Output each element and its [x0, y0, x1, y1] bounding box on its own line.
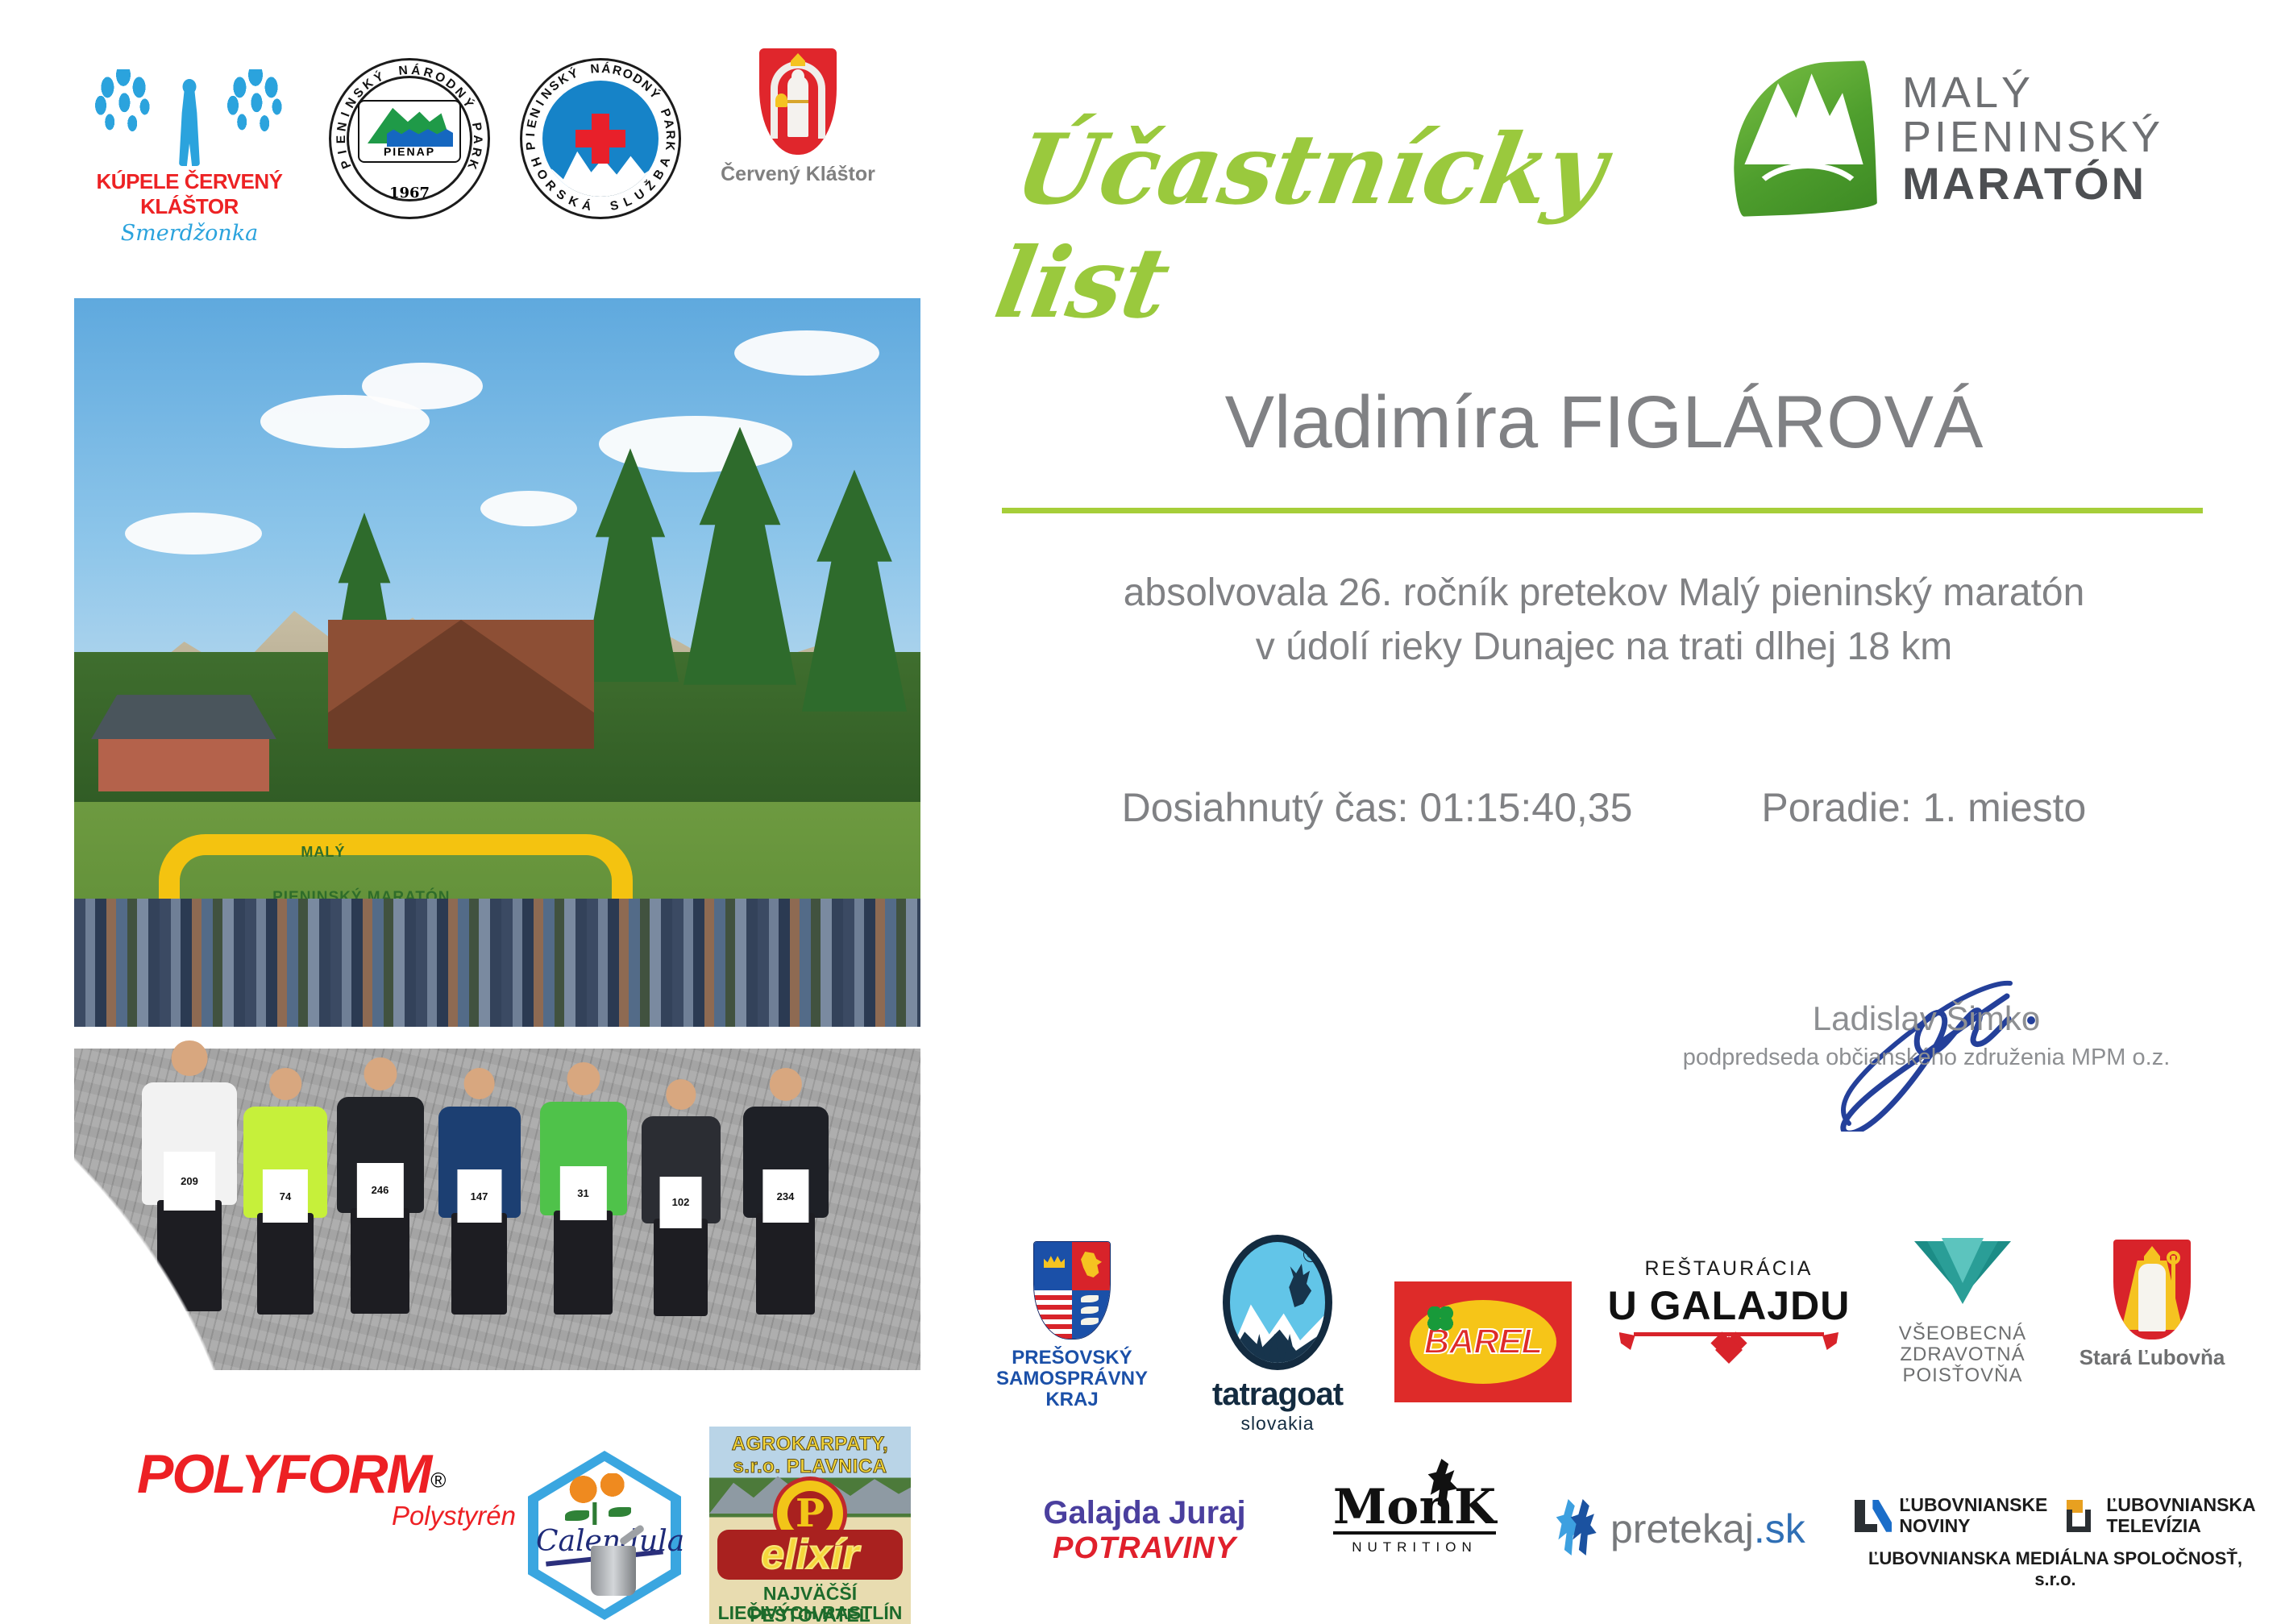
- mpm-wordmark: MALÝ PIENINSKÝ MARATÓN: [1902, 71, 2163, 206]
- cerveny-klastor-caption: Červený Kláštor: [709, 163, 887, 186]
- galajda-juraj-potraviny-logo: Galajda Juraj POTRAVINY: [1028, 1495, 1261, 1566]
- fish-icon: [1081, 1318, 1099, 1325]
- leaf-icon: [609, 1507, 631, 1517]
- frame-icon: [2067, 1510, 2091, 1532]
- pretekaj-wordmark: pretekaj.sk: [1610, 1506, 1805, 1552]
- placement-rank: Poradie: 1. miesto: [1761, 784, 2086, 831]
- chevron-inner: [1942, 1238, 1984, 1283]
- pretekaj-sk-logo[interactable]: pretekaj.sk: [1556, 1499, 1822, 1559]
- ln-line-1: ĽUBOVNIANSKE: [1899, 1495, 2047, 1516]
- restauracia-u-galajdu-logo: REŠTAURÁCIA U GALAJDU: [1604, 1257, 1854, 1364]
- arc-char: I: [524, 133, 538, 137]
- mpm-line-1: MALÝ: [1902, 71, 2163, 115]
- elixir-bottom-line-2: LIEČIVÝCH RASTLÍN: [709, 1602, 911, 1624]
- stara-lubovna-logo: Stará Ľubovňa: [2071, 1240, 2233, 1369]
- lubovnianska-medialna-spolocnost-logo: ĽUBOVNIANSKE NOVINY ĽUBOVNIANSKA TELEVÍZ…: [1854, 1495, 2257, 1590]
- barel-logo: BAREL: [1394, 1281, 1572, 1402]
- arc-char: E: [525, 118, 541, 130]
- folk-ornament-icon: [1604, 1332, 1854, 1364]
- vszp-caption-line-3: POISŤOVŇA: [1870, 1365, 2055, 1386]
- polyform-wordmark: POLYFORM: [137, 1443, 430, 1505]
- ltv-monogram-icon: [2067, 1500, 2099, 1532]
- vszp-caption-line-1: VŠEOBECNÁ: [1870, 1323, 2055, 1344]
- kupele-logo-sub-text: Smerdžonka: [89, 221, 290, 246]
- crosier-curl-icon: [2167, 1251, 2180, 1265]
- horska-sluzba-logo: PIENINSKÝ NÁRODNÝ PARKHORSKÁ SLUŽBA: [520, 58, 681, 219]
- arc-char: R: [467, 146, 484, 158]
- psk-caption: PREŠOVSKÝ SAMOSPRÁVNY KRAJ: [979, 1348, 1165, 1410]
- ltv-line-2: TELEVÍZIA: [2106, 1516, 2255, 1537]
- registered-trademark-icon: ®: [1303, 1247, 1319, 1262]
- event-photo-card: MALÝ PIENINSKÝ MARATÓN 209 74: [50, 266, 920, 1394]
- barel-oval-icon: BAREL: [1410, 1300, 1556, 1384]
- wing-left-icon: [95, 69, 152, 139]
- angel-body-icon: [179, 85, 200, 166]
- tatragoat-wordmark: tatragoat: [1177, 1377, 1378, 1413]
- arc-char: Ž: [643, 178, 659, 193]
- waves-icon: [1034, 1290, 1072, 1339]
- arc-char: Á: [410, 64, 421, 79]
- arc-char: K: [662, 140, 677, 151]
- coat-of-arms-icon: [1033, 1241, 1111, 1339]
- arc-char: [387, 66, 394, 81]
- result-row: Dosiahnutý čas: 01:15:40,35 Poradie: 1. …: [991, 784, 2217, 831]
- monk-nutrition-logo: MonK NUTRITION: [1306, 1483, 1523, 1555]
- signature-block: Ladislav Šimko podpredseda občianského z…: [1660, 999, 2192, 1071]
- arc-char: [599, 201, 602, 215]
- vseobecna-zdravotna-poistovna-logo: VŠEOBECNÁ ZDRAVOTNÁ POISŤOVŇA: [1870, 1241, 2055, 1386]
- kupele-cerveny-klastor-logo: KÚPELE ČERVENÝ KLÁŠTOR Smerdžonka: [89, 64, 290, 226]
- tatragoat-emblem-icon: ®: [1223, 1235, 1332, 1370]
- lubovnianske-noviny-logo: ĽUBOVNIANSKE NOVINY: [1855, 1495, 2047, 1537]
- chamois-goat-icon: [1286, 1264, 1314, 1307]
- arc-char: N: [398, 64, 409, 79]
- arc-char: R: [663, 130, 678, 139]
- bishop-head-icon: [2146, 1262, 2159, 1277]
- ltv-line-1: ĽUBOVNIANSKA: [2106, 1495, 2255, 1516]
- leaf-icon: [565, 1510, 589, 1521]
- letter-l-base-icon: [1855, 1524, 1877, 1532]
- maly-pieninsky-maraton-logo: MALÝ PIENINSKÝ MARATÓN: [1733, 58, 2233, 219]
- arc-char: H: [527, 156, 544, 169]
- arc-char: [580, 64, 587, 79]
- galajda-line-2: POTRAVINY: [1028, 1531, 1261, 1566]
- coat-of-arms-shield-icon: [759, 48, 837, 155]
- arc-char: S: [553, 187, 568, 204]
- stara-lubovna-caption: Stará Ľubovňa: [2071, 1346, 2233, 1369]
- signer-role: podpredseda občianského združenia MPM o.…: [1660, 1045, 2192, 1071]
- arc-char: I: [335, 149, 350, 156]
- arc-char: P: [524, 141, 539, 151]
- arc-char: Ý: [372, 70, 386, 87]
- galajda-line-1: Galajda Juraj: [1028, 1495, 1261, 1531]
- bell-icon: [775, 93, 787, 107]
- arc-char: S: [609, 198, 621, 214]
- fish-icon: [1081, 1306, 1099, 1314]
- monk-belt-icon: [787, 100, 808, 103]
- arc-char: U: [633, 187, 649, 204]
- tatragoat-logo: ® tatragoat slovakia: [1177, 1235, 1378, 1435]
- achieved-time: Dosiahnutý čas: 01:15:40,35: [1122, 784, 1633, 831]
- mpm-line-3: MARATÓN: [1902, 160, 2163, 206]
- arc-char: A: [657, 156, 674, 169]
- arc-char: P: [468, 122, 484, 132]
- ltv-caption: ĽUBOVNIANSKA TELEVÍZIA: [2106, 1495, 2255, 1537]
- arc-char: R: [422, 65, 434, 81]
- presovsky-samospravny-kraj-logo: PREŠOVSKÝ SAMOSPRÁVNY KRAJ: [979, 1241, 1165, 1410]
- arc-char: [465, 110, 480, 118]
- galajdu-top-text: REŠTAURÁCIA: [1604, 1257, 1854, 1281]
- registered-trademark-icon: ®: [430, 1468, 446, 1493]
- recipient-name: Vladimíra FIGLÁROVÁ: [991, 380, 2217, 465]
- coat-of-arms-icon: [2113, 1240, 2191, 1339]
- ln-line-2: NOVINY: [1899, 1516, 2047, 1537]
- ln-caption: ĽUBOVNIANSKE NOVINY: [1899, 1495, 2047, 1537]
- mitre-icon: [2144, 1246, 2160, 1264]
- arc-char: P: [339, 157, 355, 170]
- arc-char: N: [590, 62, 600, 77]
- arc-char: K: [566, 193, 580, 210]
- vszp-caption: VŠEOBECNÁ ZDRAVOTNÁ POISŤOVŇA: [1870, 1323, 2055, 1386]
- leaf-ornament-icon: [1822, 1332, 1839, 1350]
- wing-right-icon: [227, 69, 284, 139]
- sponsor-logo-row-top: KÚPELE ČERVENÝ KLÁŠTOR Smerdžonka PIENIN…: [0, 0, 967, 258]
- leaf-ornament-icon: [1619, 1332, 1635, 1350]
- psk-caption-line-1: PREŠOVSKÝ: [979, 1348, 1165, 1369]
- name-divider: [1002, 508, 2203, 513]
- leaf-mountain-icon: [1733, 63, 1875, 214]
- media-company-footer: ĽUBOVNIANSKA MEDIÁLNA SPOLOČNOSŤ, s.r.o.: [1854, 1548, 2257, 1590]
- running-figures-icon: [1556, 1499, 1601, 1559]
- monk-subtext: NUTRITION: [1306, 1539, 1523, 1555]
- kupele-logo-main-text: KÚPELE ČERVENÝ KLÁŠTOR: [89, 169, 290, 219]
- psk-caption-line-2: SAMOSPRÁVNY: [979, 1369, 1165, 1389]
- signer-name: Ladislav Šimko: [1660, 999, 2192, 1038]
- arc-char: Á: [580, 198, 592, 214]
- angel-wings-icon: [89, 64, 290, 169]
- mortar-icon: [591, 1546, 636, 1596]
- arc-char: N: [528, 106, 545, 120]
- horska-arc-text: PIENINSKÝ NÁRODNÝ PARKHORSKÁ SLUŽBA: [520, 58, 681, 219]
- pienap-badge-icon: PIENAP: [358, 100, 461, 163]
- arc-char: Ý: [459, 96, 476, 110]
- arc-char: Á: [601, 62, 612, 77]
- heart-icon: [1715, 1336, 1743, 1364]
- arc-char: N: [334, 121, 351, 132]
- page-title: Účastnícky list: [987, 113, 1753, 340]
- arc-char: I: [339, 110, 353, 118]
- arc-char: R: [542, 178, 559, 195]
- mitre-icon: [791, 53, 805, 66]
- leaf-vein-icon: [1747, 163, 1868, 243]
- polyform-logo: POLYFORM® Polystyrén: [137, 1443, 516, 1531]
- pieninsky-narodny-park-logo: PIENINSKÝ NÁRODNÝ PARK PIENAP 1967: [329, 58, 490, 219]
- cerveny-klastor-logo: Červený Kláštor: [709, 48, 887, 226]
- agrokarpaty-elixir-logo: AGROKARPATY, s.r.o. PLAVNICA P elixír NA…: [709, 1427, 911, 1624]
- arc-char: E: [334, 135, 349, 144]
- pienap-year-label: 1967: [329, 185, 490, 201]
- elixir-ribbon-wordmark: elixír: [717, 1530, 903, 1580]
- arc-char: [653, 98, 667, 109]
- arc-char: A: [660, 118, 676, 130]
- arc-char: A: [470, 135, 484, 143]
- media-logo-row: ĽUBOVNIANSKE NOVINY ĽUBOVNIANSKA TELEVÍZ…: [1854, 1495, 2257, 1537]
- arc-char: L: [621, 194, 634, 210]
- vszp-chevron-icon: [1914, 1241, 2011, 1315]
- monk-figure-icon: [787, 76, 808, 137]
- fish-icon: [1081, 1295, 1099, 1302]
- arc-char: I: [534, 98, 548, 109]
- certificate-body-line-2: v údolí rieky Dunajec na trati dlhej 18 …: [991, 625, 2217, 669]
- monk-head-icon: [791, 69, 804, 84]
- psk-caption-line-3: KRAJ: [979, 1389, 1165, 1410]
- lubovnianska-televizia-logo: ĽUBOVNIANSKA TELEVÍZIA: [2067, 1495, 2255, 1537]
- crosier-icon: [2171, 1256, 2175, 1325]
- agrokarpaty-top-text: AGROKARPATY, s.r.o. PLAVNICA: [709, 1433, 911, 1478]
- arc-char: B: [651, 168, 668, 183]
- pretekaj-word-a: pretekaj: [1610, 1506, 1754, 1551]
- ln-monogram-icon: [1855, 1500, 1892, 1532]
- pienap-badge-label: PIENAP: [359, 145, 459, 158]
- arc-char: K: [463, 157, 480, 171]
- clover-icon: [1427, 1306, 1453, 1331]
- mpm-line-2: PIENINSKÝ: [1902, 115, 2163, 160]
- monk-wordmark: MonK: [1333, 1483, 1496, 1535]
- galajdu-main-text: U GALAJDU: [1604, 1282, 1854, 1329]
- photo-frame: MALÝ PIENINSKÝ MARATÓN 209 74: [50, 266, 920, 1394]
- vszp-caption-line-2: ZDRAVOTNÁ: [1870, 1344, 2055, 1365]
- arc-char: O: [533, 167, 551, 183]
- certificate-body-line-1: absolvovala 26. ročník pretekov Malý pie…: [991, 571, 2217, 615]
- tatragoat-subtext: slovakia: [1177, 1413, 1378, 1435]
- polyform-wordmark-row: POLYFORM®: [137, 1443, 516, 1506]
- calendula-logo: Calendula: [528, 1451, 681, 1620]
- pretekaj-word-b: .sk: [1754, 1506, 1805, 1551]
